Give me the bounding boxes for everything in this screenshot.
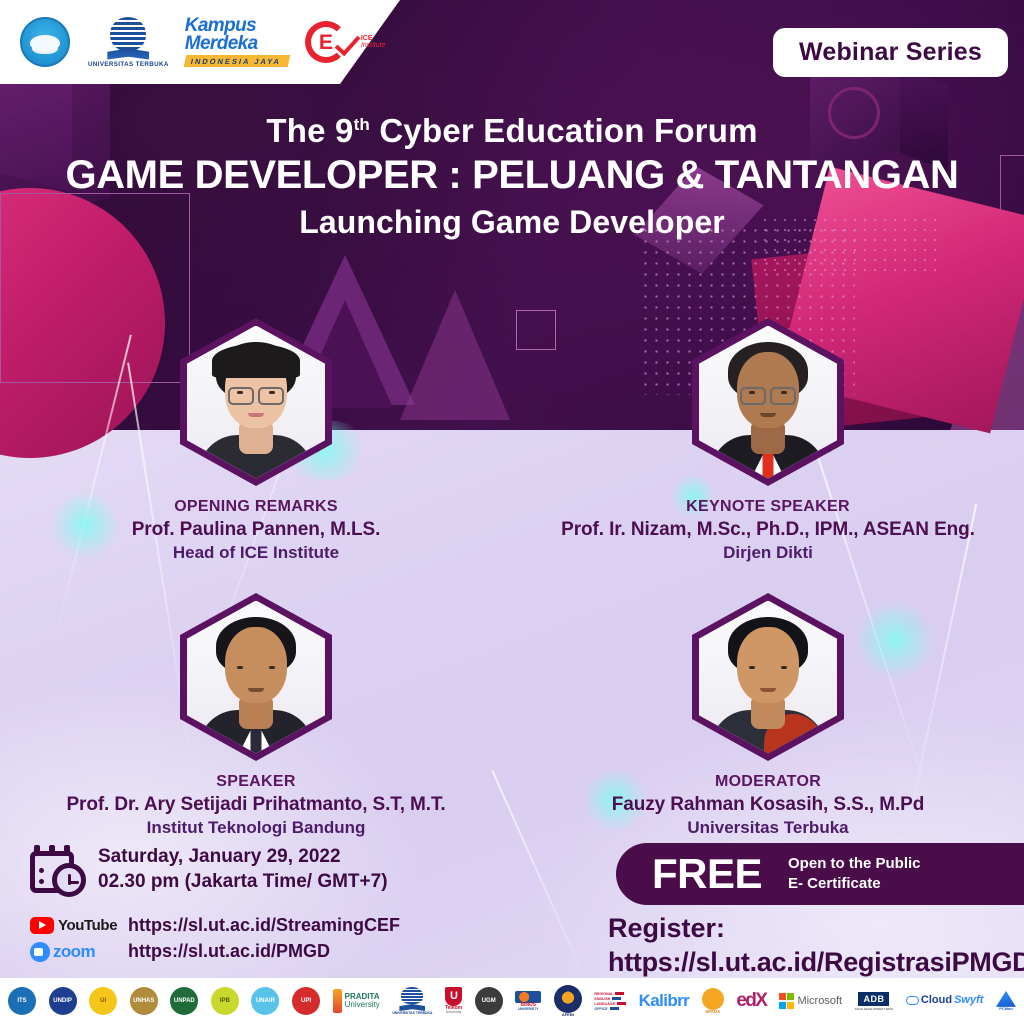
- event-subtitle: Launching Game Developer: [0, 203, 1024, 241]
- unair-logo: UNAIR: [251, 984, 279, 1018]
- check-icon: [339, 27, 361, 57]
- edx-logo: edX: [736, 984, 766, 1018]
- schedule-block: Saturday, January 29, 2022 02.30 pm (Jak…: [30, 845, 388, 897]
- undip-logo: UNDIP: [49, 984, 77, 1018]
- register-url[interactable]: https://sl.ut.ac.id/RegistrasiPMGD: [608, 946, 1024, 980]
- pcman-logo: PCMan: [996, 984, 1016, 1018]
- universitas-terbuka-logo: UNIVERSITAS TERBUKA: [88, 17, 169, 68]
- telkom-university-logo: U Telkom University: [445, 984, 462, 1018]
- free-label: FREE: [652, 850, 762, 898]
- streaming-row-zoom[interactable]: zoom https://sl.ut.ac.id/PMGD: [30, 941, 400, 962]
- streaming-row-youtube[interactable]: YouTube https://sl.ut.ac.id/StreamingCEF: [30, 915, 400, 936]
- header-logo-group: UNIVERSITAS TERBUKA Kampus Merdeka INDON…: [18, 6, 385, 78]
- speaker-grid: OPENING REMARKS Prof. Paulina Pannen, M.…: [0, 318, 1024, 838]
- calendar-clock-icon: [30, 845, 86, 897]
- youtube-url[interactable]: https://sl.ut.ac.id/StreamingCEF: [128, 915, 400, 936]
- webinar-series-badge: Webinar Series: [773, 28, 1008, 77]
- title-block: The 9th Cyber Education Forum GAME DEVEL…: [0, 112, 1024, 242]
- speaker-role: MODERATOR: [715, 773, 821, 791]
- adb-logo: ADB ASIAN DEVELOPMENT BANK: [855, 984, 894, 1018]
- afebi-logo: AFEBI: [554, 984, 582, 1018]
- its-logo: ITS: [8, 984, 36, 1018]
- ugm-logo: UGM: [475, 984, 503, 1018]
- kampus-merdeka-tagline: INDONESIA JAYA: [183, 55, 290, 67]
- speaker-card-keynote-speaker: KEYNOTE SPEAKER Prof. Ir. Nizam, M.Sc., …: [512, 318, 1024, 563]
- portrait-paulina-pannen: [187, 326, 325, 479]
- pradita-university-logo: PRADITA University: [333, 984, 380, 1018]
- register-label: Register:: [608, 912, 1024, 946]
- event-forum-line: The 9th Cyber Education Forum: [0, 112, 1024, 150]
- relo-logo: REGIONAL ENGLISH LANGUAGE OFFICE: [594, 984, 626, 1018]
- youtube-label: YouTube: [58, 917, 117, 934]
- streaming-links: YouTube https://sl.ut.ac.id/StreamingCEF…: [30, 915, 400, 967]
- speaker-org: Institut Teknologi Bandung: [147, 818, 366, 838]
- forum-suffix: Cyber Education Forum: [370, 112, 758, 149]
- speaker-card-moderator: MODERATOR Fauzy Rahman Kosasih, S.S., M.…: [512, 593, 1024, 838]
- kampus-merdeka-line2: Merdeka: [185, 35, 258, 53]
- speaker-name: Prof. Dr. Ary Setijadi Prihatmanto, S.T,…: [66, 794, 445, 816]
- speaker-card-speaker: SPEAKER Prof. Dr. Ary Setijadi Prihatman…: [0, 593, 512, 838]
- speaker-org: Head of ICE Institute: [173, 543, 339, 563]
- tut-wuri-handayani-logo: [18, 15, 72, 69]
- pricing-note-line1: Open to the Public: [788, 854, 921, 874]
- speaker-name: Prof. Paulina Pannen, M.LS.: [132, 519, 381, 541]
- speaker-photo-frame: [692, 593, 844, 761]
- ice-label-line1: ICE: [361, 35, 386, 42]
- portrait-ary-setijadi-prihatmanto: [187, 601, 325, 754]
- upi-logo: UPI: [292, 984, 320, 1018]
- pricing-note-line2: E- Certificate: [788, 874, 921, 894]
- speaker-org: Dirjen Dikti: [723, 543, 813, 563]
- ice-label-line2: Institute: [361, 42, 386, 49]
- ui-logo: UI: [89, 984, 117, 1018]
- ice-institute-logo: ICE Institute: [305, 21, 386, 63]
- registration-block: Register: https://sl.ut.ac.id/Registrasi…: [608, 912, 1024, 980]
- speaker-role: SPEAKER: [216, 773, 295, 791]
- speaker-row-top: OPENING REMARKS Prof. Paulina Pannen, M.…: [0, 318, 1024, 563]
- unhas-logo: UNHAS: [130, 984, 158, 1018]
- event-date: Saturday, January 29, 2022: [98, 845, 388, 870]
- binus-university-logo: BINUS UNIVERSITY: [515, 984, 541, 1018]
- speaker-role: KEYNOTE SPEAKER: [686, 498, 850, 516]
- ipb-logo: IPB: [211, 984, 239, 1018]
- microsoft-logo: Microsoft: [779, 984, 842, 1018]
- speaker-name: Fauzy Rahman Kosasih, S.S., M.Pd: [612, 794, 924, 816]
- universitas-terbuka-logo-footer: UNIVERSITAS TERBUKA: [392, 984, 432, 1018]
- forum-prefix: The 9: [266, 112, 353, 149]
- speaker-photo-frame: [692, 318, 844, 486]
- zoom-url[interactable]: https://sl.ut.ac.id/PMGD: [128, 941, 330, 962]
- youtube-icon: YouTube: [30, 917, 118, 934]
- speaker-row-bottom: SPEAKER Prof. Dr. Ary Setijadi Prihatman…: [0, 593, 1024, 838]
- speaker-org: Universitas Terbuka: [687, 818, 848, 838]
- event-main-title: GAME DEVELOPER : PELUANG & TANTANGAN: [0, 152, 1024, 199]
- event-time: 02.30 pm (Jakarta Time/ GMT+7): [98, 870, 388, 895]
- kalibrr-logo: Kalibrr: [639, 984, 690, 1018]
- portrait-nizam: [699, 326, 837, 479]
- speaker-card-opening-remarks: OPENING REMARKS Prof. Paulina Pannen, M.…: [0, 318, 512, 563]
- zoom-icon: zoom: [30, 942, 118, 962]
- unpad-logo: UNPAD: [170, 984, 198, 1018]
- kampus-merdeka-logo: Kampus Merdeka INDONESIA JAYA: [185, 17, 289, 67]
- speaker-photo-frame: [180, 593, 332, 761]
- webinar-poster: UNIVERSITAS TERBUKA Kampus Merdeka INDON…: [0, 0, 1024, 1024]
- spada-logo: SPADA: [702, 984, 724, 1018]
- universitas-terbuka-label: UNIVERSITAS TERBUKA: [88, 61, 169, 68]
- speaker-name: Prof. Ir. Nizam, M.Sc., Ph.D., IPM., ASE…: [561, 519, 975, 541]
- forum-ordinal: th: [354, 115, 370, 134]
- speaker-role: OPENING REMARKS: [174, 498, 338, 516]
- partner-logo-strip: ITS UNDIP UI UNHAS UNPAD IPB UNAIR UPI P…: [0, 978, 1024, 1024]
- cloudswyft-logo: Cloud Swyft: [906, 984, 984, 1018]
- portrait-fauzy-rahman-kosasih: [699, 601, 837, 754]
- pricing-banner: FREE Open to the Public E- Certificate: [616, 843, 1024, 905]
- zoom-label: zoom: [53, 942, 95, 962]
- speaker-photo-frame: [180, 318, 332, 486]
